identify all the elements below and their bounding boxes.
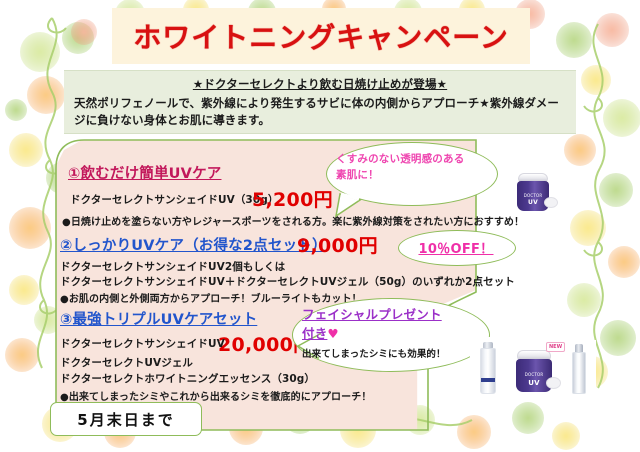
callout-bubble-1-tail (330, 192, 370, 218)
callout-bubble-3-line-2-text: 付き (302, 326, 327, 341)
flyer-page: ホワイトニングキャンペーン ★ドクターセレクトより飲む日焼け止めが登場★ 天然ポ… (0, 0, 640, 452)
page-title: ホワイトニングキャンペーン (133, 16, 509, 56)
discount-badge-text: 10％OFF！ (398, 230, 514, 264)
jar-texture-swatch-2 (546, 377, 561, 389)
tube-body (480, 348, 496, 394)
uv-gel-tube-image (480, 342, 496, 394)
section-1-note: ●日焼け止めを塗らない方やレジャースポーツをされる方。楽に紫外線対策をされたい方… (62, 213, 524, 228)
section-2-product-line-1: ドクターセレクトサンシェイドUV2個もしくは (60, 259, 285, 274)
section-2-note: ●お肌の内側と外側両方からアプローチ！ブルーライトもカット！ (60, 290, 362, 305)
callout-bubble-1-text: くすみのない透明感のある 素肌に！ (336, 151, 486, 184)
callout-bubble-3-line-1: フェイシャルプレゼント (302, 306, 492, 325)
section-2-product-line-2: ドクターセレクトサンシェイドUV＋ドクターセレクトUVジェル（50g）のいずれか… (60, 274, 515, 289)
section-1-product-line: ドクターセレクトサンシェイドUV（30g） (70, 192, 278, 207)
subtitle-panel: ★ドクターセレクトより飲む日焼け止めが登場★ 天然ポリフェノールで、紫外線により… (64, 70, 576, 134)
tube-label-band (481, 378, 495, 382)
product-photo-sunshade-jar: DOCTOR UV (508, 167, 558, 215)
new-badge: NEW (546, 342, 565, 352)
discount-label: 10％OFF！ (418, 238, 493, 257)
section-3-product-line-2: ドクターセレクトUVジェル (60, 355, 193, 370)
subtitle-heading: ★ドクターセレクトより飲む日焼け止めが登場★ (74, 76, 566, 92)
campaign-date-label: 5月末日まで (77, 409, 174, 430)
jar-body: DOCTOR UV (517, 181, 549, 211)
jar-body-2: DOCTOR UV (516, 359, 552, 392)
callout-bubble-1-line-2: 素肌に！ (336, 167, 486, 183)
heart-icon: ♥ (327, 325, 338, 344)
subtitle-body: 天然ポリフェノールで、紫外線により発生するサビに体の内側からアプローチ★紫外線ダ… (74, 95, 566, 128)
product-photo-uv-gel-tube (470, 337, 506, 399)
whitening-essence-pump-image (572, 344, 586, 394)
section-3-product-line-3: ドクターセレクトホワイトニングエッセンス（30g） (60, 371, 315, 386)
title-band: ホワイトニングキャンペーン (112, 8, 530, 64)
callout-bubble-3-line-2: 付き♥ (302, 325, 492, 344)
campaign-date-box: 5月末日まで (50, 402, 202, 436)
section-2-heading: ②しっかりUVケア（お得な2点セット） (60, 234, 327, 255)
section-1-price: 5,200円 (252, 185, 333, 212)
pump-body (572, 352, 586, 394)
section-3-note: ●出来てしまったシミやこれから出来るシミを徹底的にアプローチ！ (60, 388, 371, 403)
section-3-heading: ③最強トリプルUVケアセット (60, 308, 257, 329)
jar-brand-text-2: DOCTOR (516, 372, 552, 377)
jar-brand-text: DOCTOR (517, 193, 549, 198)
product-photo-whitening-essence: NEW (562, 340, 596, 398)
jar-texture-swatch (544, 197, 558, 208)
callout-bubble-1-line-1: くすみのない透明感のある (336, 151, 486, 167)
section-1-heading: ①飲むだけ簡単UVケア (68, 162, 221, 183)
callout-bubble-3-line-3: 出来てしまったシミにも効果的！ (302, 346, 492, 360)
callout-bubble-3-text: フェイシャルプレゼント 付き♥ 出来てしまったシミにも効果的！ (302, 306, 492, 360)
section-2-price: 9,000円 (297, 231, 378, 258)
section-3-product-line-1: ドクターセレクトサンシェイドUV (60, 336, 225, 351)
